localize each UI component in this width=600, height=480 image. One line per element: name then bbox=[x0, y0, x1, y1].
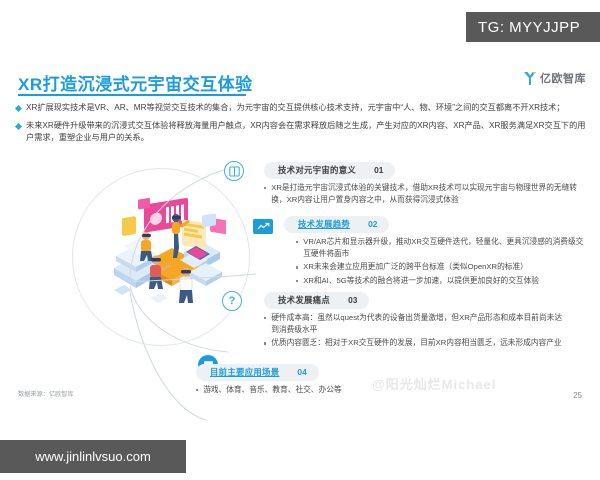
dot-bullet-icon bbox=[264, 187, 266, 189]
brand-logo-text: 亿欧智库 bbox=[540, 70, 586, 86]
center-watermark: @阳光灿烂Michael bbox=[372, 374, 496, 393]
section-02-number: 02 bbox=[368, 219, 377, 229]
question-mark-icon: ? bbox=[222, 291, 242, 311]
data-source-note: 数据来源：亿欧智库 bbox=[18, 389, 74, 398]
page-number: 25 bbox=[573, 391, 582, 400]
section-04-number: 04 bbox=[297, 367, 306, 377]
section-01-title: 技术对元宇宙的意义 bbox=[278, 164, 356, 176]
list-item: XR未来会建立应用更加广泛的跨平台标准（类似OpenXR的标准） bbox=[296, 261, 586, 273]
dot-bullet-icon bbox=[296, 266, 298, 268]
title-underline bbox=[18, 94, 246, 96]
trend-chart-icon bbox=[253, 219, 273, 234]
brand-logo: 亿欧智库 bbox=[523, 70, 586, 86]
intro-bullet-text: 未来XR硬件升级带来的沉浸式交互体验将释放海量用户触点，XR内容会在需求释放后随… bbox=[26, 120, 588, 145]
section-01-header: 技术对元宇宙的意义 01 bbox=[264, 162, 395, 179]
intro-bullet-item: XR扩展现实技术是VR、AR、MR等视觉交互技术的集合，为元宇宙的交互提供核心技… bbox=[16, 102, 588, 115]
intro-bullet-text: XR扩展现实技术是VR、AR、MR等视觉交互技术的集合，为元宇宙的交互提供核心技… bbox=[26, 102, 588, 115]
intro-bullet-item: 未来XR硬件升级带来的沉浸式交互体验将释放海量用户触点，XR内容会在需求释放后随… bbox=[16, 120, 588, 145]
list-item-text: 优质内容匮乏：相对于XR交互硬件的发展，目前XR内容相当匮乏，远未形成内容产业 bbox=[271, 337, 564, 349]
list-item-text: XR是打造元宇宙沉浸式体验的关键技术，借助XR技术可以实现元宇宙与物理世界的无缝… bbox=[271, 182, 586, 207]
tg-watermark-badge: TG: MYYJJPP bbox=[466, 12, 600, 42]
diamond-bullet-icon bbox=[15, 105, 22, 112]
list-item-text: XR未来会建立应用更加广泛的跨平台标准（类似OpenXR的标准） bbox=[303, 261, 586, 273]
section-03: 技术发展痛点 03 硬件成本高：虽然以quest为代表的设备出货量激增，但XR产… bbox=[264, 290, 564, 351]
section-03-number: 03 bbox=[348, 295, 357, 305]
dot-bullet-icon bbox=[296, 241, 298, 243]
list-item: 优质内容匮乏：相对于XR交互硬件的发展，目前XR内容相当匮乏，远未形成内容产业 bbox=[264, 337, 564, 349]
section-02-header: 技术发展趋势 02 bbox=[284, 216, 389, 233]
diamond-bullet-icon bbox=[15, 123, 22, 130]
section-04-title: 目前主要应用场景 bbox=[210, 366, 279, 378]
list-item-text: 硬件成本高：虽然以quest为代表的设备出货量激增，但XR产品形态和成本目前尚未… bbox=[271, 312, 564, 337]
list-item: XR和AI、5G等技术的融合将进一步加速，以提供更加良好的交互体验 bbox=[296, 275, 586, 287]
list-item: XR是打造元宇宙沉浸式体验的关键技术，借助XR技术可以实现元宇宙与物理世界的无缝… bbox=[264, 182, 586, 207]
intro-bullets: XR扩展现实技术是VR、AR、MR等视觉交互技术的集合，为元宇宙的交互提供核心技… bbox=[16, 102, 588, 150]
section-03-header: 技术发展痛点 03 bbox=[264, 292, 369, 309]
section-02-title: 技术发展趋势 bbox=[298, 218, 350, 230]
list-item-text: XR和AI、5G等技术的融合将进一步加速，以提供更加良好的交互体验 bbox=[303, 275, 586, 287]
dot-bullet-icon bbox=[264, 317, 266, 319]
dot-bullet-icon bbox=[196, 389, 198, 391]
section-01-body: XR是打造元宇宙沉浸式体验的关键技术，借助XR技术可以实现元宇宙与物理世界的无缝… bbox=[264, 182, 586, 207]
section-03-body: 硬件成本高：虽然以quest为代表的设备出货量激增，但XR产品形态和成本目前尚未… bbox=[264, 312, 564, 350]
dot-bullet-icon bbox=[296, 280, 298, 282]
section-01: 技术对元宇宙的意义 01 XR是打造元宇宙沉浸式体验的关键技术，借助XR技术可以… bbox=[264, 160, 586, 207]
xr-isometric-scene-icon bbox=[98, 198, 226, 316]
section-02: 技术发展趋势 02 VR/AR芯片和显示器升级，推动XR交互硬件迭代，轻量化、更… bbox=[284, 214, 586, 288]
page-title: XR打造沉浸式元宇宙交互体验 bbox=[18, 70, 253, 95]
list-item-text: VR/AR芯片和显示器升级，推动XR交互硬件迭代，轻量化、更具沉浸感的消费级交互… bbox=[303, 236, 586, 261]
y-mark-icon bbox=[523, 71, 537, 86]
illustration-circle bbox=[72, 168, 250, 346]
section-03-title: 技术发展痛点 bbox=[278, 294, 330, 306]
slide-canvas: XR打造沉浸式元宇宙交互体验 亿欧智库 XR扩展现实技术是VR、AR、MR等视觉… bbox=[0, 56, 600, 416]
dot-bullet-icon bbox=[264, 342, 266, 344]
section-01-number: 01 bbox=[374, 165, 383, 175]
list-item: VR/AR芯片和显示器升级，推动XR交互硬件迭代，轻量化、更具沉浸感的消费级交互… bbox=[296, 236, 586, 261]
url-watermark-bar: www.jinlinlvsuo.com bbox=[0, 440, 186, 473]
section-02-body: VR/AR芯片和显示器升级，推动XR交互硬件迭代，轻量化、更具沉浸感的消费级交互… bbox=[284, 236, 586, 288]
list-item: 硬件成本高：虽然以quest为代表的设备出货量激增，但XR产品形态和成本目前尚未… bbox=[264, 312, 564, 337]
section-04-header: 目前主要应用场景 04 bbox=[196, 364, 319, 381]
book-icon bbox=[224, 161, 244, 181]
